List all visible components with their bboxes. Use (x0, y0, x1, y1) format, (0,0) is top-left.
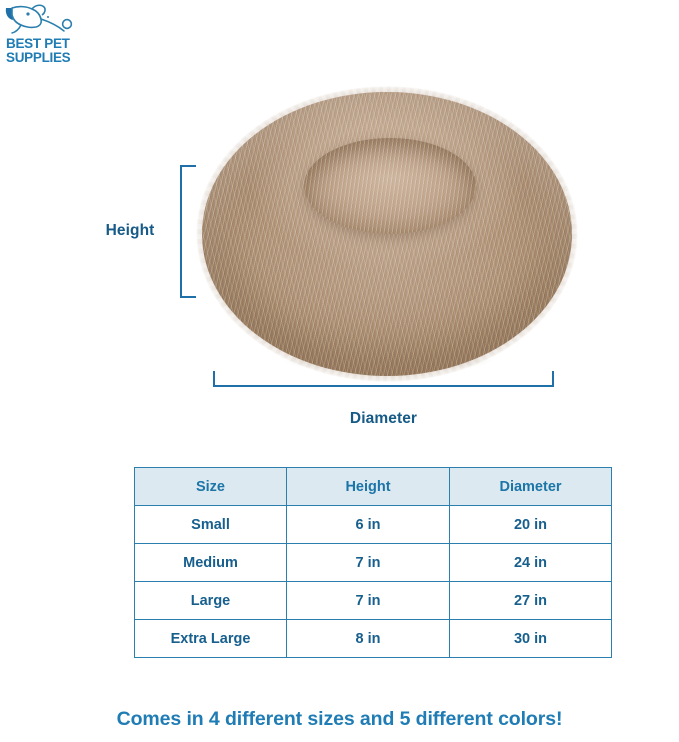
cell-height: 8 in (287, 620, 450, 658)
height-callout-label: Height (88, 222, 172, 240)
footer-tagline: Comes in 4 different sizes and 5 differe… (0, 708, 679, 731)
cell-diameter: 27 in (450, 582, 612, 620)
height-measure-bracket (180, 165, 196, 298)
cell-diameter: 20 in (450, 506, 612, 544)
cell-size: Small (135, 506, 287, 544)
cell-size: Extra Large (135, 620, 287, 658)
size-chart-table: Size Height Diameter Small 6 in 20 in Me… (134, 467, 612, 658)
diameter-callout-label: Diameter (213, 410, 554, 428)
cell-height: 7 in (287, 582, 450, 620)
brand-logo: BEST PETSUPPLIES (4, 4, 88, 70)
column-header-height: Height (287, 468, 450, 506)
column-header-size: Size (135, 468, 287, 506)
cell-height: 6 in (287, 506, 450, 544)
diameter-measure-bracket (213, 371, 554, 387)
column-header-diameter: Diameter (450, 468, 612, 506)
cell-size: Large (135, 582, 287, 620)
table-row: Medium 7 in 24 in (135, 544, 612, 582)
dog-outline-icon (4, 4, 88, 40)
product-image-dog-bed (196, 78, 578, 386)
table-row: Large 7 in 27 in (135, 582, 612, 620)
brand-wordmark: BEST PETSUPPLIES (6, 37, 88, 64)
cell-diameter: 24 in (450, 544, 612, 582)
brand-wordmark-line2: SUPPLIES (6, 50, 70, 65)
cell-diameter: 30 in (450, 620, 612, 658)
cell-size: Medium (135, 544, 287, 582)
table-row: Small 6 in 20 in (135, 506, 612, 544)
bed-fur-texture (202, 92, 572, 376)
cell-height: 7 in (287, 544, 450, 582)
table-header-row: Size Height Diameter (135, 468, 612, 506)
table-row: Extra Large 8 in 30 in (135, 620, 612, 658)
bed-inner-fur-texture (304, 138, 476, 234)
